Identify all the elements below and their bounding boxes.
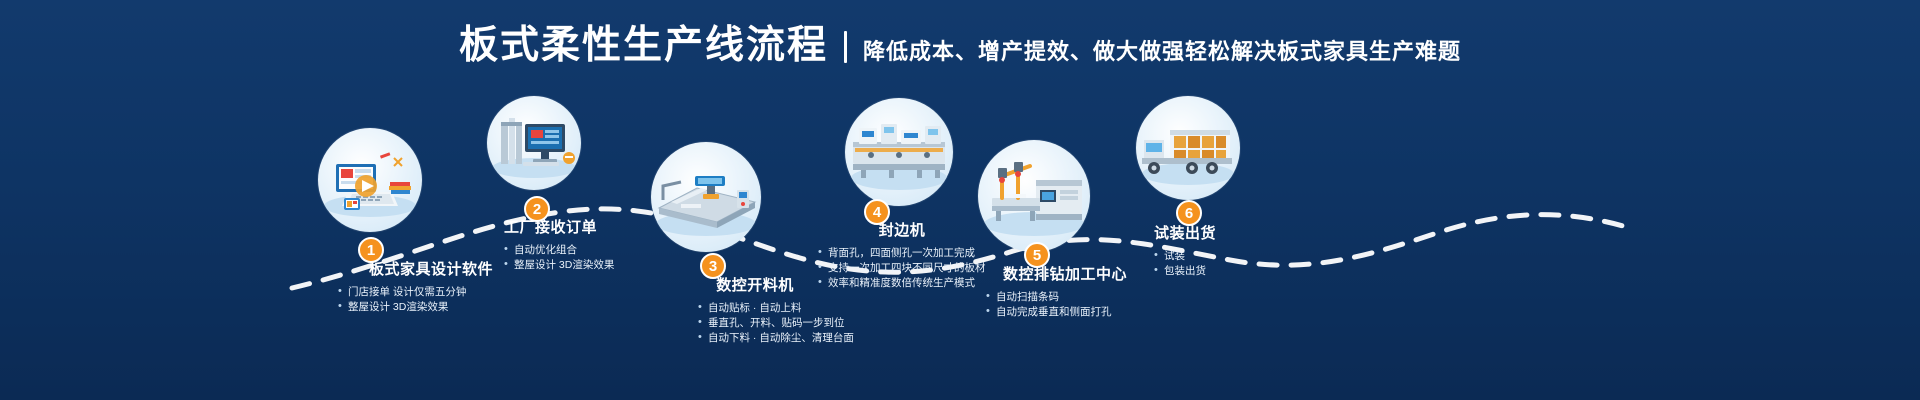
- step-1-badge: 1: [358, 237, 384, 263]
- edge-banding-machine-icon: [845, 98, 953, 206]
- list-item: 整屋设计 3D渲染效果: [504, 258, 712, 273]
- step-6-badge: 6: [1176, 200, 1202, 226]
- step-1-bullets: 门店接单 设计仅需五分钟 整屋设计 3D渲染效果: [316, 285, 546, 315]
- step-6-title: 试装出货: [1132, 222, 1362, 243]
- infographic-root: 板式柔性生产线流程 降低成本、增产提效、做大做强轻松解决板式家具生产难题: [0, 0, 1920, 400]
- step-4-title: 封边机: [812, 219, 992, 240]
- step-4-badge: 4: [864, 199, 890, 225]
- desktop-monitor-icon: [487, 96, 581, 190]
- step-6-text: 试装出货 试装 包装出货: [1132, 222, 1362, 279]
- step-2-badge: 2: [524, 196, 550, 222]
- list-item: 整屋设计 3D渲染效果: [338, 300, 546, 315]
- list-item: 背面孔，四面侧孔一次加工完成: [818, 246, 1112, 261]
- process-flow-path: [0, 0, 1920, 400]
- list-item: 自动完成垂直和侧面打孔: [986, 305, 1240, 320]
- step-2-bullets: 自动优化组合 整屋设计 3D渲染效果: [482, 243, 712, 273]
- laptop-design-icon: [318, 128, 422, 232]
- list-item: 垂直孔、开料、贴码一步到位: [698, 316, 940, 331]
- list-item: 门店接单 设计仅需五分钟: [338, 285, 546, 300]
- step-5-badge: 5: [1024, 242, 1050, 268]
- list-item: 自动优化组合: [504, 243, 712, 258]
- step-2-title: 工厂接收订单: [482, 216, 712, 237]
- step-1-illustration: [318, 128, 422, 232]
- step-6-illustration: [1136, 96, 1240, 200]
- step-6-bullets: 试装 包装出货: [1132, 249, 1362, 279]
- step-5-bullets: 自动扫描条码 自动完成垂直和侧面打孔: [960, 290, 1240, 320]
- step-3-badge: 3: [700, 253, 726, 279]
- list-item: 自动扫描条码: [986, 290, 1240, 305]
- step-4-illustration: [845, 98, 953, 206]
- list-item: 自动贴标 · 自动上料: [698, 301, 940, 316]
- list-item: 试装: [1154, 249, 1362, 264]
- list-item: 自动下料 · 自动除尘、清理台面: [698, 331, 940, 346]
- list-item: 包装出货: [1154, 264, 1362, 279]
- step-2-text: 工厂接收订单 自动优化组合 整屋设计 3D渲染效果: [482, 216, 712, 273]
- step-2-illustration: [487, 96, 581, 190]
- delivery-truck-icon: [1136, 96, 1240, 200]
- step-3-bullets: 自动贴标 · 自动上料 垂直孔、开料、贴码一步到位 自动下料 · 自动除尘、清理…: [660, 301, 940, 346]
